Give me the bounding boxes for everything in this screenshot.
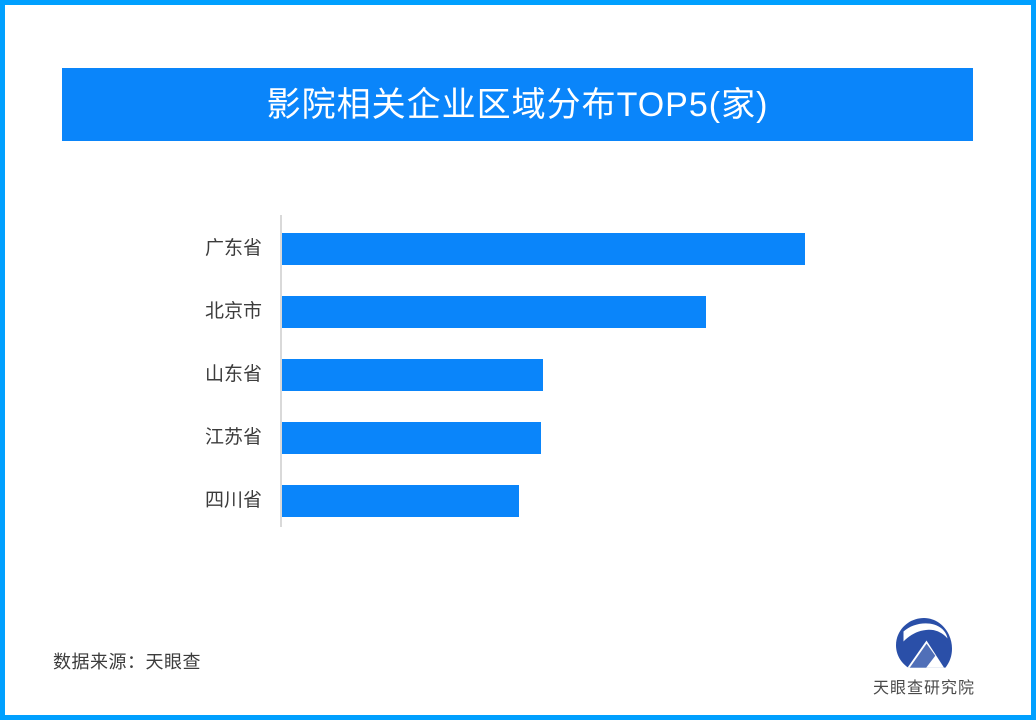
chart-page: 影院相关企业区域分布TOP5(家) 广东省北京市山东省江苏省四川省 数据来源：天… bbox=[0, 0, 1036, 720]
bar-row: 江苏省 bbox=[0, 422, 1036, 485]
page-border-right bbox=[1031, 0, 1036, 720]
page-border-left bbox=[0, 0, 5, 720]
bar-category-label: 江苏省 bbox=[120, 422, 262, 454]
bar-chart: 广东省北京市山东省江苏省四川省 bbox=[0, 200, 1036, 550]
bar-fill bbox=[282, 422, 541, 454]
bar-row: 北京市 bbox=[0, 296, 1036, 359]
brand-logo: 天眼查研究院 bbox=[864, 616, 984, 698]
bar-fill bbox=[282, 359, 543, 391]
bar-category-label: 广东省 bbox=[120, 233, 262, 265]
bar-fill bbox=[282, 296, 706, 328]
bar-track bbox=[282, 485, 519, 517]
bar-fill bbox=[282, 233, 805, 265]
title-banner: 影院相关企业区域分布TOP5(家) bbox=[62, 68, 973, 141]
bar-category-label: 北京市 bbox=[120, 296, 262, 328]
bar-category-label: 四川省 bbox=[120, 485, 262, 517]
tianyancha-logo-icon bbox=[893, 616, 955, 672]
bar-fill bbox=[282, 485, 519, 517]
page-border-top bbox=[0, 0, 1036, 5]
brand-logo-text: 天眼查研究院 bbox=[864, 674, 984, 698]
bar-row: 山东省 bbox=[0, 359, 1036, 422]
page-border-bottom bbox=[0, 715, 1036, 720]
data-source-label: 数据来源：天眼查 bbox=[53, 648, 201, 674]
bar-row: 四川省 bbox=[0, 485, 1036, 548]
bar-track bbox=[282, 422, 541, 454]
bar-track bbox=[282, 233, 805, 265]
bar-track bbox=[282, 359, 543, 391]
bar-row: 广东省 bbox=[0, 233, 1036, 296]
bar-track bbox=[282, 296, 706, 328]
page-title: 影院相关企业区域分布TOP5(家) bbox=[267, 88, 769, 122]
bar-category-label: 山东省 bbox=[120, 359, 262, 391]
